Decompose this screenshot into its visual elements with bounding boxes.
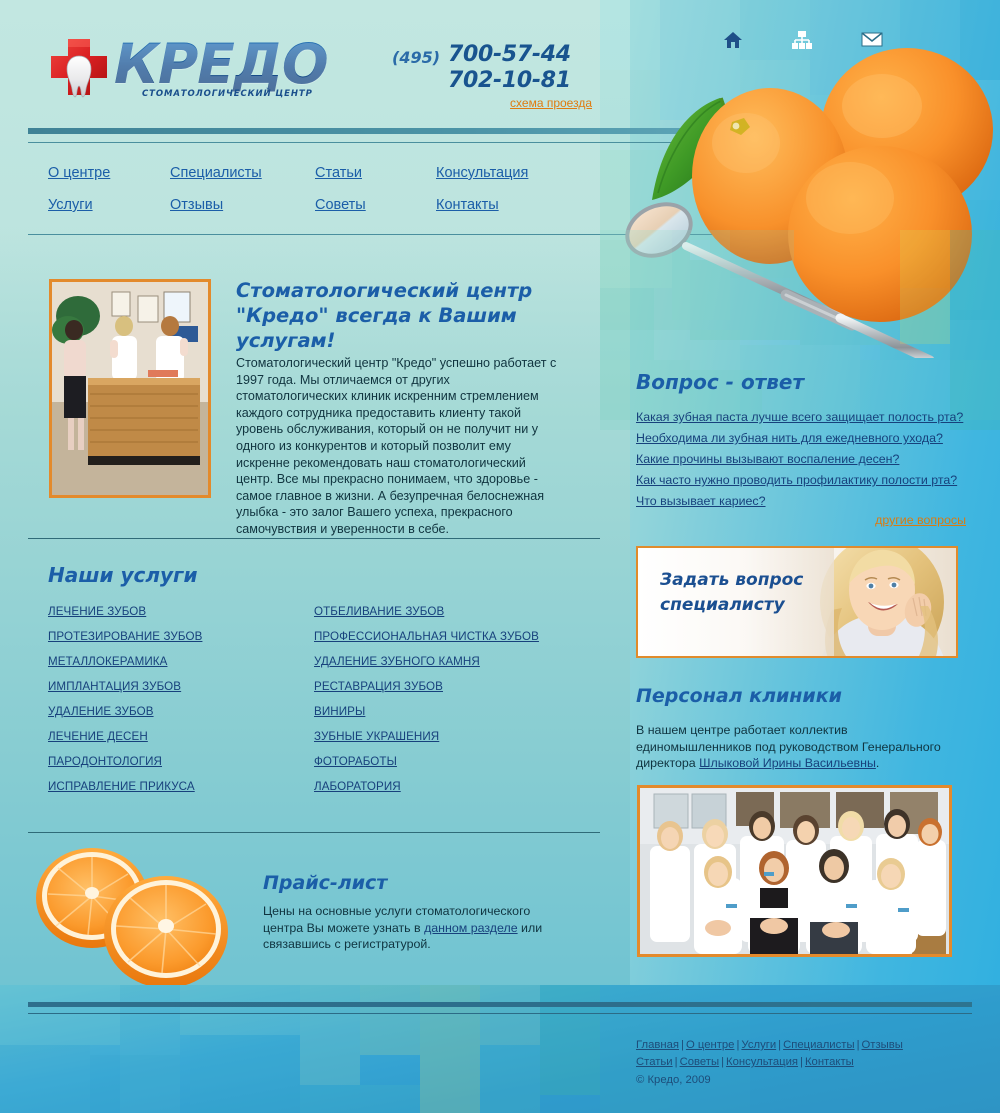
- footer-link-about[interactable]: О центре: [686, 1039, 735, 1051]
- footer-link-consultation[interactable]: Консультация: [726, 1056, 798, 1068]
- footer-link-articles[interactable]: Статьи: [636, 1056, 673, 1068]
- page-root: КРЕДО СТОМАТОЛОГИЧЕСКИЙ ЦЕНТР (495) 700-…: [0, 0, 1000, 1113]
- price-section-link[interactable]: данном разделе: [424, 921, 518, 935]
- price-body: Цены на основные услуги стоматологическо…: [263, 903, 563, 953]
- qa-title: Вопрос - ответ: [636, 370, 804, 394]
- service-link-metal-ceramic[interactable]: МЕТАЛЛОКЕРАМИКА: [48, 655, 314, 668]
- nav-item-advice[interactable]: Советы: [315, 197, 436, 213]
- nav-item-about[interactable]: О центре: [48, 165, 170, 181]
- staff-title: Персонал клиники: [636, 685, 842, 707]
- staff-body: В нашем центре работает коллектив едином…: [636, 722, 958, 772]
- qa-question-list: Какая зубная паста лучше всего защищает …: [636, 410, 966, 515]
- logo-wordmark: КРЕДО: [114, 32, 328, 96]
- phone-number-1: 700-57-44: [448, 42, 592, 68]
- staff-director-link[interactable]: Шлыковой Ирины Васильевны: [699, 756, 876, 770]
- ask-line-1: Задать вопрос: [660, 568, 830, 593]
- service-link-laboratory[interactable]: ЛАБОРАТОРИЯ: [314, 780, 580, 793]
- footer-sep: |: [855, 1039, 862, 1051]
- service-link-veneers[interactable]: ВИНИРЫ: [314, 705, 580, 718]
- nav-row-secondary: Услуги Отзывы Советы Контакты: [48, 197, 608, 213]
- nav-item-contacts[interactable]: Контакты: [436, 197, 576, 213]
- nav-item-reviews[interactable]: Отзывы: [170, 197, 315, 213]
- intro-title: Стоматологический центр "Кредо" всегда к…: [236, 278, 596, 353]
- hero-mosaic-overlay: [600, 230, 1000, 430]
- team-photo: [637, 785, 952, 957]
- service-link-bite-correction[interactable]: ИСПРАВЛЕНИЕ ПРИКУСА: [48, 780, 314, 793]
- footer-divider-bar: [28, 1002, 972, 1007]
- ask-specialist-text: Задать вопрос специалисту: [660, 568, 830, 618]
- footer-sep: |: [679, 1039, 686, 1051]
- footer-link-advice[interactable]: Советы: [680, 1056, 720, 1068]
- reception-photo: [49, 279, 211, 498]
- services-column-left: ЛЕЧЕНИЕ ЗУБОВ ПРОТЕЗИРОВАНИЕ ЗУБОВ МЕТАЛ…: [48, 605, 314, 805]
- service-link-periodontology[interactable]: ПАРОДОНТОЛОГИЯ: [48, 755, 314, 768]
- service-link-tartar-removal[interactable]: УДАЛЕНИЕ ЗУБНОГО КАМНЯ: [314, 655, 580, 668]
- qa-question-floss[interactable]: Необходима ли зубная нить для ежедневног…: [636, 431, 966, 445]
- footer-link-services[interactable]: Услуги: [741, 1039, 776, 1051]
- footer-copyright: © Кредо, 2009: [636, 1074, 711, 1086]
- nav-item-articles[interactable]: Статьи: [315, 165, 436, 181]
- services-top-divider: [28, 538, 600, 539]
- footer-sep: |: [673, 1056, 680, 1068]
- service-link-tooth-jewelry[interactable]: ЗУБНЫЕ УКРАШЕНИЯ: [314, 730, 580, 743]
- nav-row-primary: О центре Специалисты Статьи Консультация: [48, 165, 608, 181]
- footer-link-home[interactable]: Главная: [636, 1039, 679, 1051]
- red-cross-tooth-icon: [48, 36, 110, 102]
- map-route-link[interactable]: схема проезда: [510, 96, 592, 110]
- qa-more-wrap: другие вопросы: [636, 511, 966, 529]
- phone-number-2: 702-10-81: [448, 68, 592, 94]
- services-title: Наши услуги: [48, 563, 198, 587]
- service-link-photo-works[interactable]: ФОТОРАБОТЫ: [314, 755, 580, 768]
- services-column-right: ОТБЕЛИВАНИЕ ЗУБОВ ПРОФЕССИОНАЛЬНАЯ ЧИСТК…: [314, 605, 580, 805]
- service-link-prosthetics[interactable]: ПРОТЕЗИРОВАНИЕ ЗУБОВ: [48, 630, 314, 643]
- service-link-whitening[interactable]: ОТБЕЛИВАНИЕ ЗУБОВ: [314, 605, 580, 618]
- qa-question-prophylaxis[interactable]: Как часто нужно проводить профилактику п…: [636, 473, 966, 487]
- site-logo[interactable]: КРЕДО СТОМАТОЛОГИЧЕСКИЙ ЦЕНТР: [48, 36, 348, 106]
- footer-link-reviews[interactable]: Отзывы: [862, 1039, 903, 1051]
- qa-question-caries[interactable]: Что вызывает кариес?: [636, 494, 966, 508]
- service-link-restoration[interactable]: РЕСТАВРАЦИЯ ЗУБОВ: [314, 680, 580, 693]
- footer-sep: |: [798, 1056, 805, 1068]
- service-link-implantation[interactable]: ИМПЛАНТАЦИЯ ЗУБОВ: [48, 680, 314, 693]
- qa-question-gum-inflammation[interactable]: Какие прочины вызывают воспаление десен?: [636, 452, 966, 466]
- nav-item-services[interactable]: Услуги: [48, 197, 170, 213]
- nav-item-specialists[interactable]: Специалисты: [170, 165, 315, 181]
- service-link-professional-cleaning[interactable]: ПРОФЕССИОНАЛЬНАЯ ЧИСТКА ЗУБОВ: [314, 630, 580, 643]
- intro-body: Стоматологический центр "Кредо" успешно …: [236, 355, 558, 538]
- nav-item-consultation[interactable]: Консультация: [436, 165, 576, 181]
- main-navigation: О центре Специалисты Статьи Консультация…: [48, 165, 608, 229]
- price-top-divider: [28, 832, 600, 833]
- orange-halves-image: [22, 840, 247, 995]
- services-list: ЛЕЧЕНИЕ ЗУБОВ ПРОТЕЗИРОВАНИЕ ЗУБОВ МЕТАЛ…: [48, 605, 588, 805]
- ask-specialist-banner[interactable]: Задать вопрос специалисту: [636, 546, 958, 658]
- qa-question-toothpaste[interactable]: Какая зубная паста лучше всего защищает …: [636, 410, 966, 424]
- footer-link-specialists[interactable]: Специалисты: [783, 1039, 854, 1051]
- footer-divider-line: [28, 1013, 972, 1014]
- qa-more-link[interactable]: другие вопросы: [875, 513, 966, 527]
- footer-link-contacts[interactable]: Контакты: [805, 1056, 854, 1068]
- staff-text-after: .: [876, 756, 879, 770]
- ask-line-2: специалисту: [660, 593, 830, 618]
- phone-block: (495) 700-57-44 702-10-81 схема проезда: [392, 42, 592, 112]
- service-link-extraction[interactable]: УДАЛЕНИЕ ЗУБОВ: [48, 705, 314, 718]
- footer-links-row-2: Статьи|Советы|Консультация|Контакты: [636, 1054, 976, 1071]
- footer-links: Главная|О центре|Услуги|Специалисты|Отзы…: [636, 1037, 976, 1071]
- phone-area-code: (495): [392, 48, 440, 67]
- footer-links-row-1: Главная|О центре|Услуги|Специалисты|Отзы…: [636, 1037, 976, 1054]
- service-link-gum-treatment[interactable]: ЛЕЧЕНИЕ ДЕСЕН: [48, 730, 314, 743]
- logo-subtitle: СТОМАТОЛОГИЧЕСКИЙ ЦЕНТР: [142, 89, 313, 99]
- price-title: Прайс-лист: [263, 872, 387, 894]
- footer-sep: |: [719, 1056, 726, 1068]
- service-link-treatment[interactable]: ЛЕЧЕНИЕ ЗУБОВ: [48, 605, 314, 618]
